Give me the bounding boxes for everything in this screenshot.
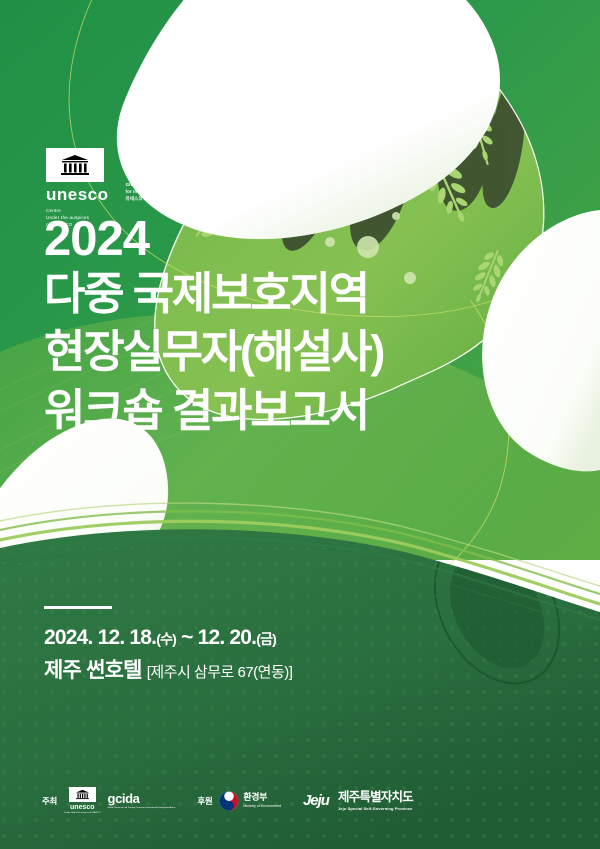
unesco-temple-icon <box>55 153 95 177</box>
footer-gcida-subtitle: Global Research and Training Centre for … <box>108 807 176 810</box>
info-divider <box>44 606 112 609</box>
title-year: 2024 <box>44 214 383 265</box>
date-end-dow: (금) <box>256 631 276 647</box>
gcida-sub-line-2: for Internationally Designated Areas <box>126 188 211 195</box>
poster-canvas: unesco Centre Under the auspices of UNES… <box>0 0 600 849</box>
jeju-brand-mark: Jeju <box>303 793 329 808</box>
globe-icon <box>160 147 169 156</box>
jeju-name-ko: 제주특별자치도 <box>338 791 413 805</box>
gcida-subtitle: Global Research and Training Centre for … <box>126 181 211 203</box>
ministry-name-en: Ministry of Environment <box>243 804 281 808</box>
ministry-of-environment-logo: 환경부 Ministry of Environment <box>219 791 281 811</box>
footer-logo-bar: 주최 <box>42 787 413 815</box>
date-start-dow: (수) <box>156 631 176 647</box>
ministry-text: 환경부 Ministry of Environment <box>243 793 281 808</box>
venue-address: [제주시 삼무로 67(연동)] <box>147 664 293 681</box>
jeju-name-en: Jeju Special Self-Governing Province <box>338 806 413 811</box>
footer-unesco-emblem-icon <box>69 787 96 802</box>
footer-unesco-wordmark: unesco <box>70 804 95 811</box>
gcida-sub-line-1: Global Research and Training Centre <box>126 181 211 188</box>
title-line-3: 워크숍 결과보고서 <box>44 382 383 441</box>
footer-gcida-logo: gcida Global Research and Training Centr… <box>108 792 176 810</box>
venue-name: 제주 썬호텔 <box>44 659 142 682</box>
title-line-2: 현장실무자(해설사) <box>44 323 383 382</box>
gcida-logo: gcida Global Research and Training Centr… <box>126 148 211 203</box>
gcida-wordmark: gcida <box>126 150 198 178</box>
footer-unesco-logo: unesco Centre Under the auspices of UNES… <box>64 787 101 815</box>
ministry-name-ko: 환경부 <box>243 793 281 803</box>
footer-gcida-wordmark: gcida <box>108 792 140 805</box>
unesco-wordmark: unesco <box>46 186 109 203</box>
gcida-sub-line-3: 유네스코 국제보호지역 글로벌연구·훈련센터 <box>126 195 211 202</box>
footer-sponsor-group: 후원 환경부 Ministry of Environment <box>197 791 281 811</box>
title-line-1: 다중 국제보호지역 <box>44 265 383 324</box>
date-separator: ~ <box>176 626 198 649</box>
footer-host-label: 주최 <box>42 795 57 807</box>
event-info: 2024. 12. 18.(수) ~ 12. 20.(금) 제주 썬호텔 [제주… <box>44 606 292 686</box>
footer-unesco-subtitle: Centre Under the auspices of UNESCO <box>64 812 101 815</box>
unesco-emblem-icon <box>46 148 104 182</box>
unesco-temple-icon <box>73 789 92 800</box>
date-end: 12. 20. <box>198 626 257 649</box>
event-venue: 제주 썬호텔 [제주시 삼무로 67(연동)] <box>44 656 292 686</box>
page-title: 2024 다중 국제보호지역 현장실무자(해설사) 워크숍 결과보고서 <box>44 214 383 440</box>
footer-host-group: 주최 <box>42 787 175 815</box>
taegeuk-emblem-icon <box>219 791 239 811</box>
event-date: 2024. 12. 18.(수) ~ 12. 20.(금) <box>44 623 292 653</box>
footer-sponsor-label: 후원 <box>197 795 212 807</box>
jeju-province-logo: Jeju 제주특별자치도 Jeju Special Self-Governing… <box>303 791 413 811</box>
date-start: 2024. 12. 18. <box>44 626 156 649</box>
jeju-text: 제주특별자치도 Jeju Special Self-Governing Prov… <box>338 791 413 811</box>
